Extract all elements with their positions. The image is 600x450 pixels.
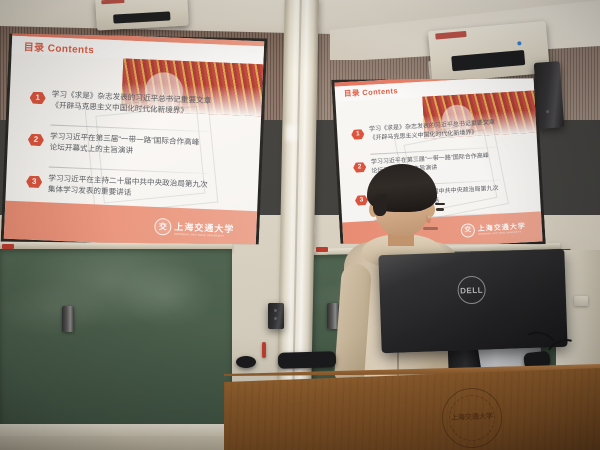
desk-keyboard-tray <box>278 351 336 369</box>
projector-status-led <box>517 41 521 45</box>
chalkboard-handle-left[interactable] <box>62 306 74 332</box>
toc-number-badge: 3 <box>26 176 42 189</box>
projector-brand-badge-right <box>435 31 466 40</box>
toc-number-badge: 1 <box>351 129 365 140</box>
ceiling-projector-right <box>428 21 550 83</box>
slide-left: 目录 Contents 1 学习《求是》杂志发表的习近平总书记重要文章 《开辟马… <box>4 31 264 249</box>
slide-header-title: 目录 Contents <box>24 38 95 56</box>
ceiling-projector-left <box>95 0 189 31</box>
eyebrow-right <box>435 203 445 205</box>
desk-puck-device <box>236 356 256 368</box>
wooden-podium <box>224 368 600 450</box>
projector-lens-left <box>113 11 170 23</box>
chalkboard-left <box>0 249 232 427</box>
mouth <box>423 227 438 230</box>
presenter-hair <box>367 164 437 212</box>
projector-lens-right <box>451 50 525 71</box>
toc-number-badge: 2 <box>28 134 44 147</box>
lecture-hall-photo: 目录 Contents 1 学习《求是》杂志发表的习近平总书记重要文章 《开辟马… <box>0 0 600 450</box>
projector-brand-badge-left <box>101 0 125 4</box>
chalkboard-bottom-trim <box>0 424 232 436</box>
wall-outlet[interactable] <box>574 296 588 306</box>
monitor-brand-logo: DELL <box>457 276 486 305</box>
chalk-rail-marker-right <box>316 247 328 252</box>
university-seal-icon: 交 <box>154 218 172 236</box>
floor-strip <box>0 436 232 450</box>
toc-number-badge: 1 <box>29 92 45 105</box>
university-seal-icon: 交 <box>460 223 475 238</box>
desk-marker <box>262 342 266 358</box>
slide-header-title: 目录 Contents <box>344 85 399 99</box>
eye-right <box>436 208 444 211</box>
slide-footer-logo-left: 交 上海交通大学 SHANGHAI JIAO TONG UNIVERSITY <box>154 218 235 238</box>
projection-screen-left: 目录 Contents 1 学习《求是》杂志发表的习近平总书记重要文章 《开辟马… <box>1 28 268 253</box>
wall-speaker-left <box>268 303 284 329</box>
